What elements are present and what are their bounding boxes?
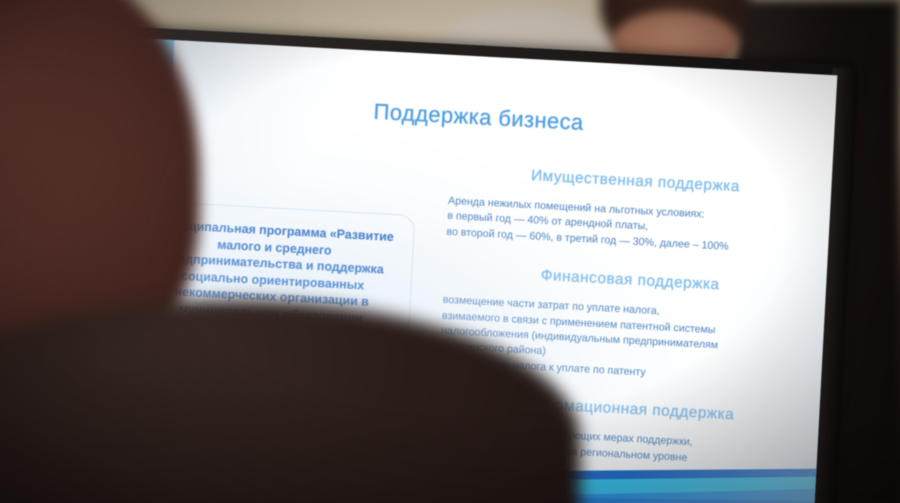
slide-title: Поддержка бизнеса [122,85,834,149]
section-heading: Имущественная поддержка [449,163,821,201]
section-property-support: Имущественная поддержка Аренда нежилых п… [446,163,822,260]
section-body: Аренда нежилых помещений на льготных усл… [446,194,820,260]
photo-scene: Поддержка бизнеса Муниципальная программ… [0,0,900,503]
section-heading: Финансовая поддержка [444,262,816,300]
